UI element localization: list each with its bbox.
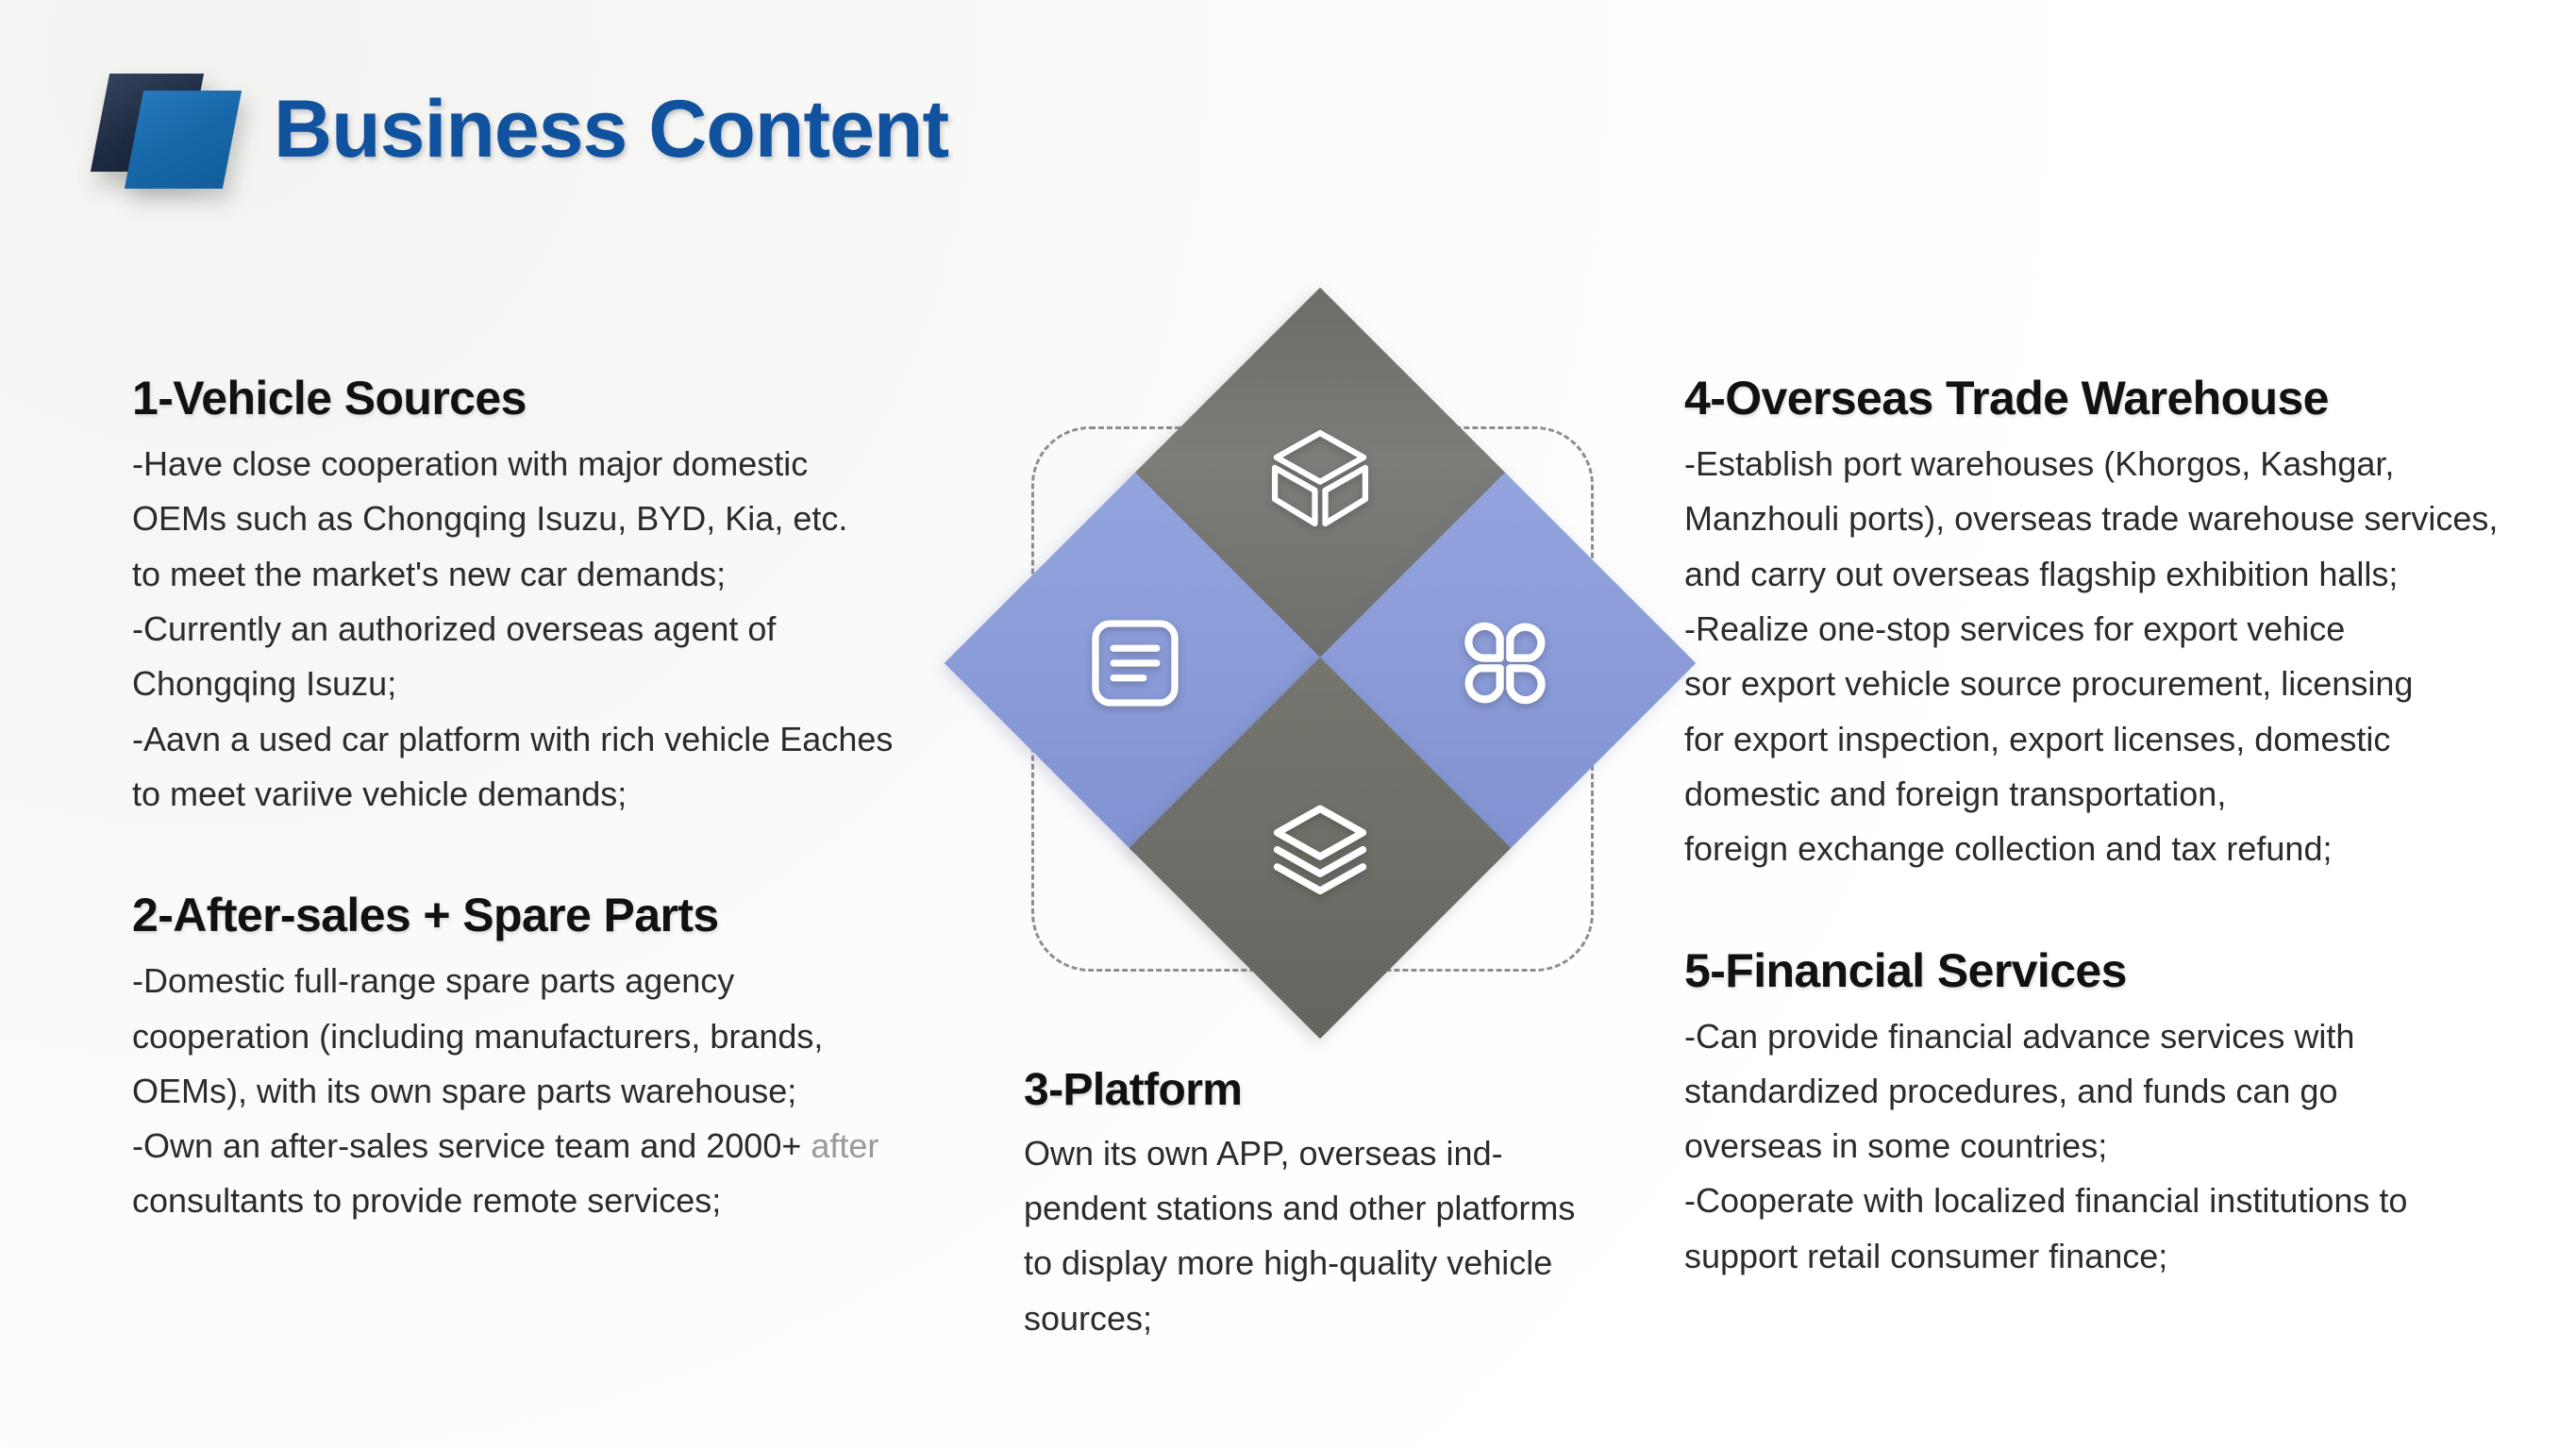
body-line: Chongqing Isuzu; xyxy=(132,657,962,711)
body-line: OEMs), with its own spare parts warehous… xyxy=(132,1064,962,1119)
section-vehicle-sources: 1-Vehicle Sources -Have close cooperatio… xyxy=(132,373,962,822)
section-financial-services: 5-Financial Services -Can provide financ… xyxy=(1684,945,2552,1285)
logo-front-shape xyxy=(125,91,242,189)
body-line: -Can provide financial advance services … xyxy=(1684,1009,2552,1064)
section-platform: 3-Platform Own its own APP, overseas ind… xyxy=(1024,1066,1684,1346)
quadrant-bottom[interactable] xyxy=(1129,657,1511,1039)
section-title: 4-Overseas Trade Warehouse xyxy=(1684,373,2552,424)
body-line: to meet variive vehicle demands; xyxy=(132,767,962,822)
body-line: -Domestic full-range spare parts agency xyxy=(132,954,962,1008)
body-line: Own its own APP, overseas ind- xyxy=(1024,1126,1684,1181)
body-line: to display more high-quality vehicle xyxy=(1024,1236,1684,1290)
page-title: Business Content xyxy=(274,83,948,176)
body-line: standardized procedures, and funds can g… xyxy=(1684,1064,2552,1119)
body-line: consultants to provide remote services; xyxy=(132,1173,962,1228)
body-line: -Have close cooperation with major domes… xyxy=(132,437,962,491)
center-column: 3-Platform Own its own APP, overseas ind… xyxy=(1024,1066,1684,1346)
left-column: 1-Vehicle Sources -Have close cooperatio… xyxy=(132,373,962,1229)
body-line: -Establish port warehouses (Khorgos, Kas… xyxy=(1684,437,2552,491)
body-line: support retail consumer finance; xyxy=(1684,1229,2552,1284)
section-body: -Can provide financial advance services … xyxy=(1684,1009,2552,1285)
body-line: overseas in some countries; xyxy=(1684,1119,2552,1173)
four-quadrant-diamond xyxy=(958,349,1682,1047)
body-line: -Realize one-stop services for export ve… xyxy=(1684,602,2552,657)
body-line: -Aavn a used car platform with rich vehi… xyxy=(132,712,962,767)
section-overseas-trade-warehouse: 4-Overseas Trade Warehouse -Establish po… xyxy=(1684,373,2552,877)
body-line: domestic and foreign transportation, xyxy=(1684,767,2552,822)
section-body: Own its own APP, overseas ind- pendent s… xyxy=(1024,1126,1684,1346)
section-title: 3-Platform xyxy=(1024,1066,1684,1115)
parallelogram-logo xyxy=(91,66,251,179)
section-body: -Have close cooperation with major domes… xyxy=(132,437,962,822)
body-line: and carry out overseas flagship exhibiti… xyxy=(1684,547,2552,602)
section-title: 1-Vehicle Sources xyxy=(132,373,962,424)
layers-icon xyxy=(1185,713,1455,983)
body-line: cooperation (including manufacturers, br… xyxy=(132,1009,962,1064)
faded-tail-text: after xyxy=(811,1126,878,1165)
body-line: Manzhouli ports), overseas trade warehou… xyxy=(1684,491,2552,546)
section-body: -Establish port warehouses (Khorgos, Kas… xyxy=(1684,437,2552,877)
body-line: -Own an after-sales service team and 200… xyxy=(132,1119,962,1173)
right-column: 4-Overseas Trade Warehouse -Establish po… xyxy=(1684,373,2552,1284)
body-line: sor export vehicle source procurement, l… xyxy=(1684,657,2552,711)
section-title: 5-Financial Services xyxy=(1684,945,2552,996)
body-line: sources; xyxy=(1024,1291,1684,1346)
body-line: pendent stations and other platforms xyxy=(1024,1181,1684,1236)
body-line: OEMs such as Chongqing Isuzu, BYD, Kia, … xyxy=(132,491,962,546)
body-line: -Currently an authorized overseas agent … xyxy=(132,602,962,657)
section-title: 2-After-sales + Spare Parts xyxy=(132,890,962,940)
body-line: foreign exchange collection and tax refu… xyxy=(1684,822,2552,876)
body-line: for export inspection, export licenses, … xyxy=(1684,712,2552,767)
body-line: to meet the market's new car demands; xyxy=(132,547,962,602)
body-line: -Cooperate with localized financial inst… xyxy=(1684,1173,2552,1228)
section-after-sales: 2-After-sales + Spare Parts -Domestic fu… xyxy=(132,890,962,1229)
page-header: Business Content xyxy=(0,0,2576,226)
section-body: -Domestic full-range spare parts agency … xyxy=(132,954,962,1229)
